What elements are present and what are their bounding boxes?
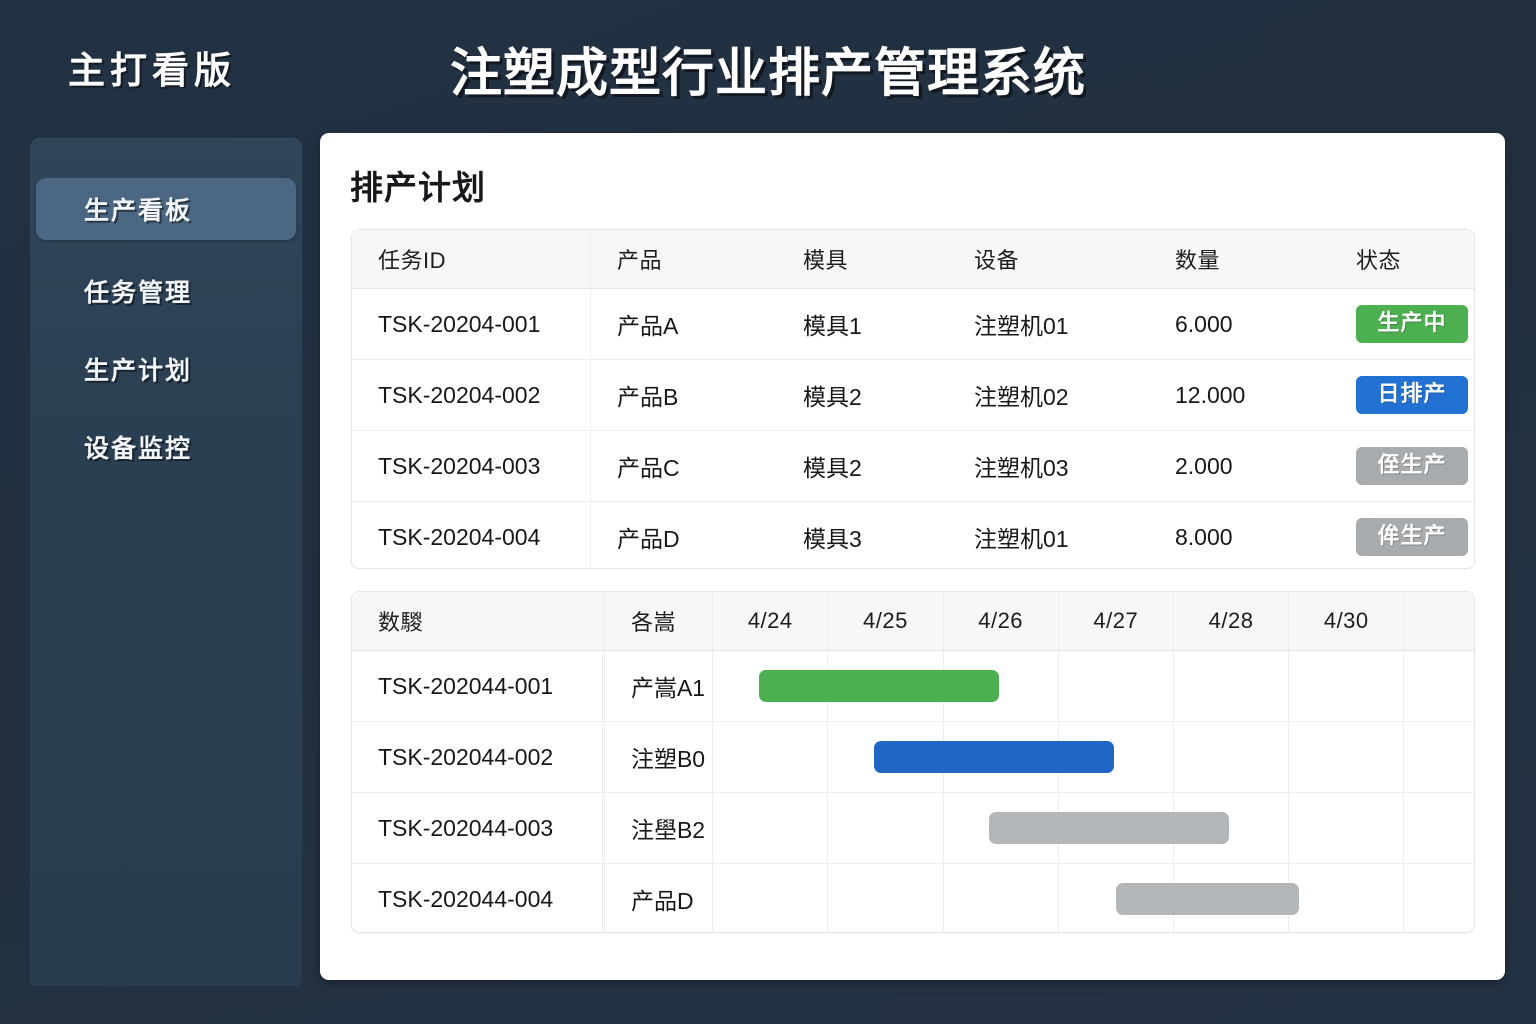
gantt-cell-task-id: TSK-202044-001 bbox=[352, 651, 602, 722]
plan-table-head: 任务ID产品模具设备数量状态 bbox=[352, 230, 1475, 289]
gantt-date-cell[interactable] bbox=[1058, 722, 1173, 793]
sidebar-item-label: 生产看板 bbox=[84, 191, 192, 227]
plan-table-card: 任务ID产品模具设备数量状态 TSK-20204-001产品A模具1注塑机016… bbox=[351, 229, 1475, 569]
status-badge: 侔生产 bbox=[1356, 518, 1468, 556]
gantt-date-header: 4/28 bbox=[1173, 592, 1288, 651]
plan-col-header-4: 设备 bbox=[948, 230, 1149, 289]
gantt-date-cell[interactable] bbox=[1058, 864, 1173, 934]
gantt-row[interactable]: TSK-202044-001产嵩A1 bbox=[352, 651, 1474, 722]
plan-col-header-2: 产品 bbox=[591, 230, 778, 289]
gantt-row[interactable]: TSK-202044-002注塑B0 bbox=[352, 722, 1474, 793]
plan-table: 任务ID产品模具设备数量状态 TSK-20204-001产品A模具1注塑机016… bbox=[352, 230, 1475, 569]
gantt-col-header-10 bbox=[1404, 592, 1474, 651]
gantt-date-cell[interactable] bbox=[713, 793, 828, 864]
gantt-date-cell[interactable] bbox=[1173, 864, 1288, 934]
plan-cell-id: TSK-20204-001 bbox=[352, 289, 591, 360]
gantt-date-cell[interactable] bbox=[713, 722, 828, 793]
gantt-cell-trailing bbox=[1404, 722, 1474, 793]
status-badge: 侄生产 bbox=[1356, 447, 1468, 485]
status-badge: 生产中 bbox=[1356, 305, 1468, 343]
plan-table-body: TSK-20204-001产品A模具1注塑机016.000生产中TSK-2020… bbox=[352, 289, 1475, 570]
gantt-date-cell[interactable] bbox=[1289, 793, 1404, 864]
top-header: 主打看版 注塑成型行业排产管理系统 bbox=[0, 0, 1536, 120]
gantt-date-header: 4/26 bbox=[943, 592, 1058, 651]
gantt-date-cell[interactable] bbox=[1058, 793, 1173, 864]
sidebar-item-label: 设备监控 bbox=[84, 429, 192, 465]
gantt-cell-trailing bbox=[1404, 793, 1474, 864]
gantt-row[interactable]: TSK-202044-003注壆B2 bbox=[352, 793, 1474, 864]
gantt-table-head: 数騣各嵩4/244/254/264/274/284/30 bbox=[352, 592, 1474, 651]
section-title: 排产计划 bbox=[350, 161, 486, 209]
gantt-date-cell[interactable] bbox=[943, 651, 1058, 722]
plan-cell-mold: 模具1 bbox=[777, 289, 948, 360]
gantt-date-cell[interactable] bbox=[828, 722, 943, 793]
gantt-cell-task-id: TSK-202044-003 bbox=[352, 793, 602, 864]
gantt-cell-name: 注塑B0 bbox=[604, 722, 712, 793]
plan-cell-status: 侄生产 bbox=[1330, 431, 1475, 502]
sidebar-item-3[interactable]: 生产计划 bbox=[36, 338, 296, 400]
plan-cell-mold: 模具2 bbox=[777, 431, 948, 502]
table-row[interactable]: TSK-20204-004产品D模具3注塑机018.000侔生产 bbox=[352, 502, 1475, 570]
gantt-date-cell[interactable] bbox=[1173, 722, 1288, 793]
plan-cell-mold: 模具2 bbox=[777, 360, 948, 431]
table-row[interactable]: TSK-20204-002产品B模具2注塑机0212.000日排产 bbox=[352, 360, 1475, 431]
gantt-date-cell[interactable] bbox=[1289, 651, 1404, 722]
plan-cell-qty: 8.000 bbox=[1149, 502, 1330, 570]
gantt-date-cell[interactable] bbox=[943, 793, 1058, 864]
gantt-row[interactable]: TSK-202044-004产品D bbox=[352, 864, 1474, 934]
gantt-date-header: 4/24 bbox=[713, 592, 828, 651]
gantt-chart-card: 数騣各嵩4/244/254/264/274/284/30 TSK-202044-… bbox=[351, 591, 1475, 933]
main-panel: 排产计划 任务ID产品模具设备数量状态 TSK-20204-001产品A模具1注… bbox=[320, 133, 1505, 980]
table-row[interactable]: TSK-20204-003产品C模具2注塑机032.000侄生产 bbox=[352, 431, 1475, 502]
sidebar-item-2[interactable]: 任务管理 bbox=[36, 260, 296, 322]
gantt-date-cell[interactable] bbox=[1289, 864, 1404, 934]
gantt-date-cell[interactable] bbox=[1289, 722, 1404, 793]
plan-cell-qty: 2.000 bbox=[1149, 431, 1330, 502]
plan-cell-machine: 注塑机03 bbox=[948, 431, 1149, 502]
gantt-date-cell[interactable] bbox=[713, 651, 828, 722]
gantt-date-cell[interactable] bbox=[828, 864, 943, 934]
plan-cell-status: 侔生产 bbox=[1330, 502, 1475, 570]
gantt-col-header-1: 数騣 bbox=[352, 592, 602, 651]
plan-cell-qty: 6.000 bbox=[1149, 289, 1330, 360]
plan-cell-id: TSK-20204-003 bbox=[352, 431, 591, 502]
gantt-date-cell[interactable] bbox=[943, 722, 1058, 793]
gantt-date-cell[interactable] bbox=[1173, 651, 1288, 722]
plan-cell-mold: 模具3 bbox=[777, 502, 948, 570]
gantt-cell-task-id: TSK-202044-004 bbox=[352, 864, 602, 934]
plan-cell-machine: 注塑机01 bbox=[948, 502, 1149, 570]
gantt-header-row: 数騣各嵩4/244/254/264/274/284/30 bbox=[352, 592, 1474, 651]
plan-cell-product: 产品A bbox=[591, 289, 778, 360]
gantt-cell-name: 注壆B2 bbox=[604, 793, 712, 864]
status-badge: 日排产 bbox=[1356, 376, 1468, 414]
plan-cell-product: 产品D bbox=[591, 502, 778, 570]
gantt-cell-name: 产品D bbox=[604, 864, 712, 934]
sidebar-item-1[interactable]: 生产看板 bbox=[36, 178, 296, 240]
plan-cell-status: 生产中 bbox=[1330, 289, 1475, 360]
plan-header-row: 任务ID产品模具设备数量状态 bbox=[352, 230, 1475, 289]
plan-col-header-1: 任务ID bbox=[352, 230, 591, 289]
table-row[interactable]: TSK-20204-001产品A模具1注塑机016.000生产中 bbox=[352, 289, 1475, 360]
app-root: 主打看版 注塑成型行业排产管理系统 生产看板任务管理生产计划设备监控 排产计划 … bbox=[0, 0, 1536, 1024]
gantt-cell-trailing bbox=[1404, 864, 1474, 934]
plan-cell-machine: 注塑机02 bbox=[948, 360, 1149, 431]
gantt-date-cell[interactable] bbox=[943, 864, 1058, 934]
gantt-date-header: 4/25 bbox=[828, 592, 943, 651]
gantt-date-cell[interactable] bbox=[1173, 793, 1288, 864]
sidebar-item-label: 任务管理 bbox=[84, 273, 192, 309]
gantt-col-header-3: 各嵩 bbox=[604, 592, 712, 651]
plan-cell-machine: 注塑机01 bbox=[948, 289, 1149, 360]
gantt-cell-name: 产嵩A1 bbox=[604, 651, 712, 722]
gantt-table-body: TSK-202044-001产嵩A1TSK-202044-002注塑B0TSK-… bbox=[352, 651, 1474, 934]
gantt-table: 数騣各嵩4/244/254/264/274/284/30 TSK-202044-… bbox=[352, 592, 1474, 933]
gantt-date-cell[interactable] bbox=[713, 864, 828, 934]
plan-cell-qty: 12.000 bbox=[1149, 360, 1330, 431]
plan-cell-product: 产品C bbox=[591, 431, 778, 502]
plan-cell-id: TSK-20204-002 bbox=[352, 360, 591, 431]
gantt-date-cell[interactable] bbox=[828, 651, 943, 722]
plan-col-header-3: 模具 bbox=[777, 230, 948, 289]
plan-col-header-5: 数量 bbox=[1149, 230, 1330, 289]
gantt-cell-task-id: TSK-202044-002 bbox=[352, 722, 602, 793]
plan-cell-product: 产品B bbox=[591, 360, 778, 431]
plan-cell-status: 日排产 bbox=[1330, 360, 1475, 431]
gantt-date-cell[interactable] bbox=[828, 793, 943, 864]
plan-cell-id: TSK-20204-004 bbox=[352, 502, 591, 570]
sidebar-item-4[interactable]: 设备监控 bbox=[36, 416, 296, 478]
page-title: 注塑成型行业排产管理系统 bbox=[0, 31, 1536, 106]
gantt-date-header: 4/30 bbox=[1289, 592, 1404, 651]
gantt-date-cell[interactable] bbox=[1058, 651, 1173, 722]
gantt-date-header: 4/27 bbox=[1058, 592, 1173, 651]
gantt-cell-trailing bbox=[1404, 651, 1474, 722]
sidebar: 生产看板任务管理生产计划设备监控 bbox=[30, 138, 302, 986]
sidebar-item-label: 生产计划 bbox=[84, 351, 192, 387]
plan-col-header-6: 状态 bbox=[1330, 230, 1475, 289]
